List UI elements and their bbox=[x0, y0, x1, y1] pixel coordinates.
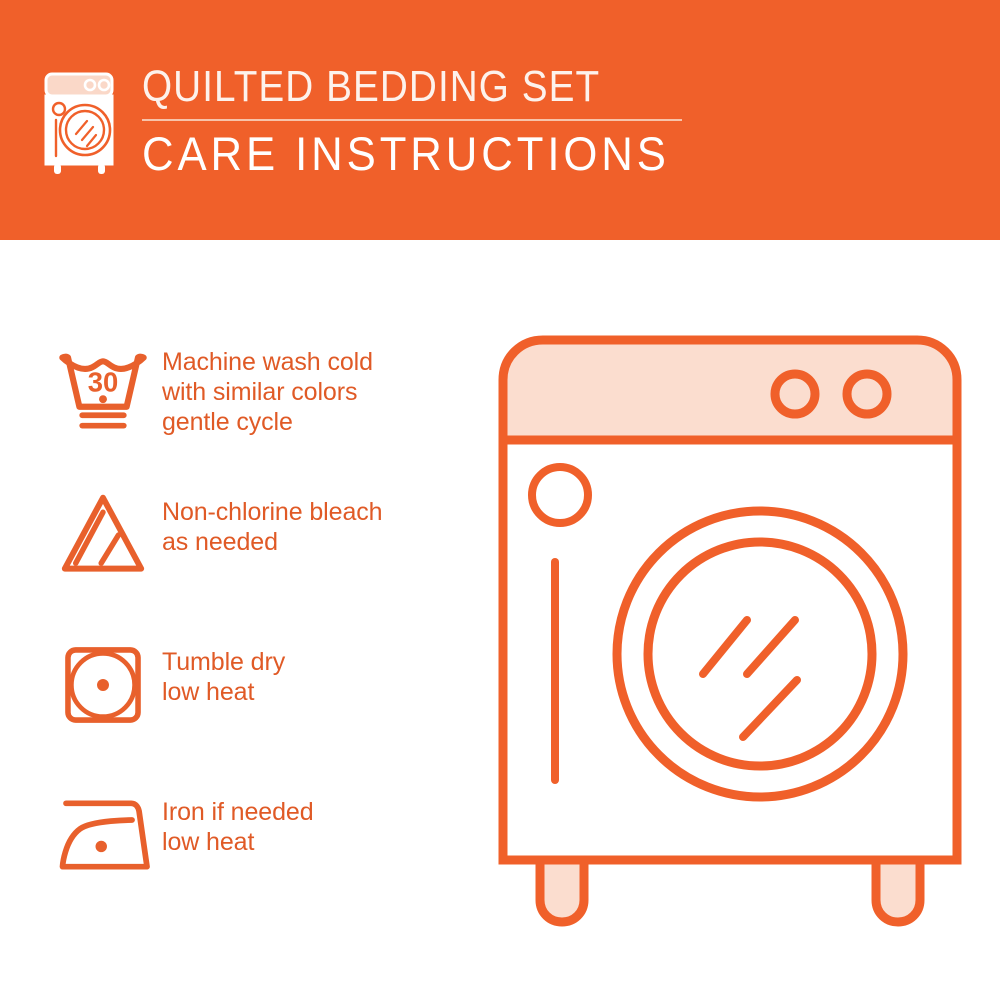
bleach-triangle-non-chlorine-symbol bbox=[44, 480, 162, 590]
iron-low-heat-symbol bbox=[44, 780, 162, 890]
leg-left bbox=[540, 860, 584, 922]
care-text-wash: Machine wash cold with similar colors ge… bbox=[162, 330, 373, 437]
care-text-bleach: Non-chlorine bleach as needed bbox=[162, 480, 382, 557]
care-row-iron: Iron if needed low heat bbox=[44, 780, 464, 930]
care-text-line: low heat bbox=[162, 827, 314, 857]
large-washing-machine-illustration bbox=[495, 332, 965, 932]
care-text-line: Tumble dry bbox=[162, 647, 285, 677]
leg-right bbox=[876, 860, 920, 922]
care-row-tumble-dry: Tumble dry low heat bbox=[44, 630, 464, 780]
wash-tub-30-gentle-symbol: 30 bbox=[44, 330, 162, 440]
care-instruction-list: 30 Machine wash cold with similar colors… bbox=[44, 330, 464, 930]
care-text-line: Iron if needed bbox=[162, 797, 314, 827]
wash-temp-label: 30 bbox=[88, 367, 118, 398]
title-divider bbox=[142, 119, 682, 121]
page-title-primary: QUILTED BEDDING SET bbox=[142, 62, 641, 112]
care-text-line: as needed bbox=[162, 527, 382, 557]
page-title-secondary: CARE INSTRUCTIONS bbox=[142, 127, 670, 181]
care-text-line: Non-chlorine bleach bbox=[162, 497, 382, 527]
care-text-tumble-dry: Tumble dry low heat bbox=[162, 630, 285, 707]
care-text-line: Machine wash cold bbox=[162, 347, 373, 377]
header-content: QUILTED BEDDING SET CARE INSTRUCTIONS bbox=[42, 62, 710, 181]
tumble-dry-low-heat-symbol bbox=[44, 630, 162, 740]
care-row-wash: 30 Machine wash cold with similar colors… bbox=[44, 330, 464, 480]
care-text-iron: Iron if needed low heat bbox=[162, 780, 314, 857]
care-text-line: low heat bbox=[162, 677, 285, 707]
care-row-bleach: Non-chlorine bleach as needed bbox=[44, 480, 464, 630]
header-banner: QUILTED BEDDING SET CARE INSTRUCTIONS bbox=[0, 0, 1000, 240]
washing-machine-icon bbox=[42, 68, 120, 178]
header-titles: QUILTED BEDDING SET CARE INSTRUCTIONS bbox=[142, 62, 710, 181]
care-text-line: with similar colors bbox=[162, 377, 373, 407]
care-text-line: gentle cycle bbox=[162, 407, 373, 437]
care-instructions-infographic: QUILTED BEDDING SET CARE INSTRUCTIONS 30 bbox=[0, 0, 1000, 1000]
